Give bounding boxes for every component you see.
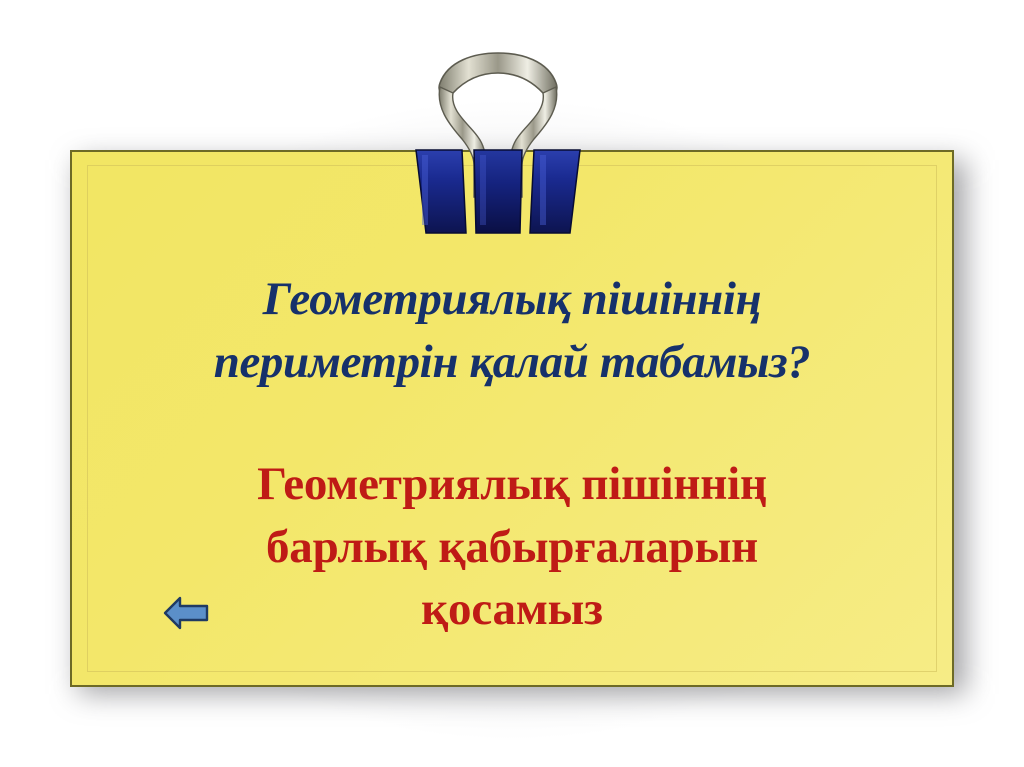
back-navigation-button[interactable] (163, 592, 209, 634)
answer-line-2: барлық қабырғаларын (86, 516, 938, 579)
question-text: Геометриялық пішіннің периметрін қалай т… (86, 268, 938, 393)
arrow-left-icon (163, 592, 209, 634)
question-line-1: Геометриялық пішіннің (86, 268, 938, 331)
note-content: Геометриялық пішіннің периметрін қалай т… (86, 165, 938, 672)
question-line-2: периметрін қалай табамыз? (86, 331, 938, 394)
slide-canvas: Геометриялық пішіннің периметрін қалай т… (0, 0, 1024, 767)
answer-text: Геометриялық пішіннің барлық қабырғалары… (86, 453, 938, 641)
answer-line-1: Геометриялық пішіннің (86, 453, 938, 516)
answer-line-3: қосамыз (86, 578, 938, 641)
